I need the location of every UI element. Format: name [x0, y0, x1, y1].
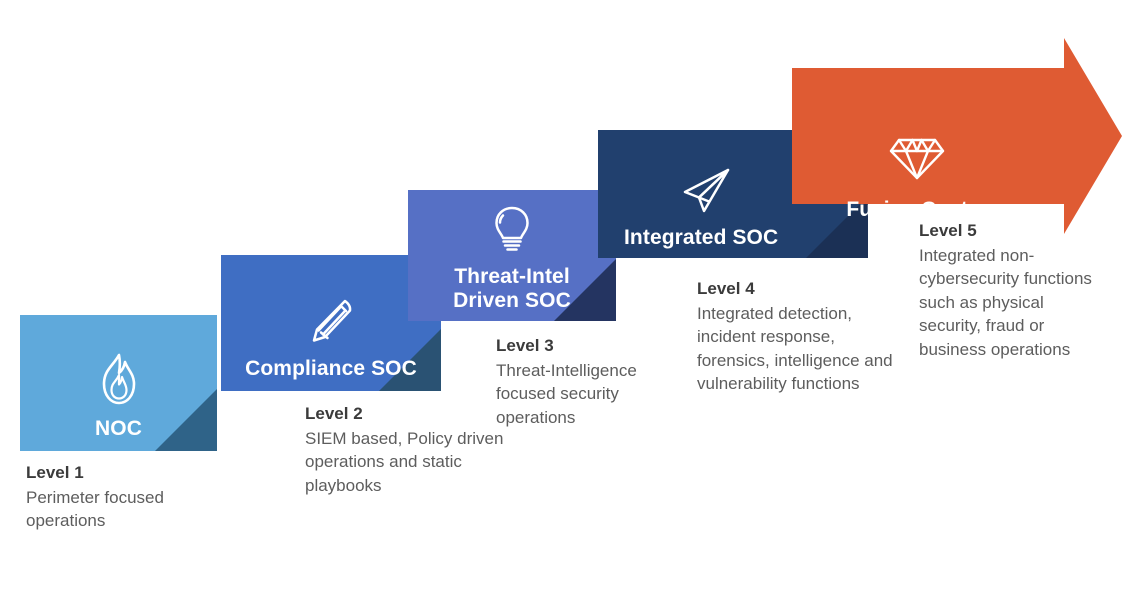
level-description-2: SIEM based, Policy driven operations and… — [305, 427, 510, 497]
level-label-5: Level 5 — [919, 220, 1104, 243]
step-block-level-3[interactable]: Threat-Intel Driven SOC — [408, 190, 616, 321]
level-description-5: Integrated non-cybersecurity functions s… — [919, 244, 1104, 361]
level-label-2: Level 2 — [305, 403, 510, 426]
caption-level-5: Level 5 Integrated non-cybersecurity fun… — [919, 220, 1104, 361]
caption-level-2: Level 2 SIEM based, Policy driven operat… — [305, 403, 510, 497]
level-label-4: Level 4 — [697, 278, 902, 301]
pencil-icon — [305, 294, 357, 353]
flame-icon — [96, 352, 142, 413]
level-label-3: Level 3 — [496, 335, 684, 358]
step-block-level-1[interactable]: NOC — [20, 315, 217, 451]
block-title-level-2: Compliance SOC — [245, 357, 417, 381]
level-label-1: Level 1 — [26, 462, 236, 485]
block-title-level-3: Threat-Intel Driven SOC — [422, 265, 602, 313]
level-description-4: Integrated detection, incident response,… — [697, 302, 902, 396]
level-description-1: Perimeter focused operations — [26, 486, 236, 533]
level-description-3: Threat-Intelligence focused security ope… — [496, 359, 684, 429]
caption-level-4: Level 4 Integrated detection, incident r… — [697, 278, 902, 396]
caption-level-1: Level 1 Perimeter focused operations — [26, 462, 236, 533]
soc-maturity-diagram: NOC Level 1 Perimeter focused operations — [0, 0, 1140, 612]
block-title-level-4: Integrated SOC — [624, 226, 778, 250]
block-title-level-1: NOC — [95, 417, 142, 441]
paper-plane-icon — [680, 165, 736, 222]
diamond-icon — [888, 133, 946, 188]
block-title-level-5: Fusion Center — [846, 198, 987, 222]
step-block-level-5[interactable]: Fusion Center — [792, 38, 1122, 234]
lightbulb-icon — [490, 204, 534, 261]
caption-level-3: Level 3 Threat-Intelligence focused secu… — [496, 335, 684, 429]
